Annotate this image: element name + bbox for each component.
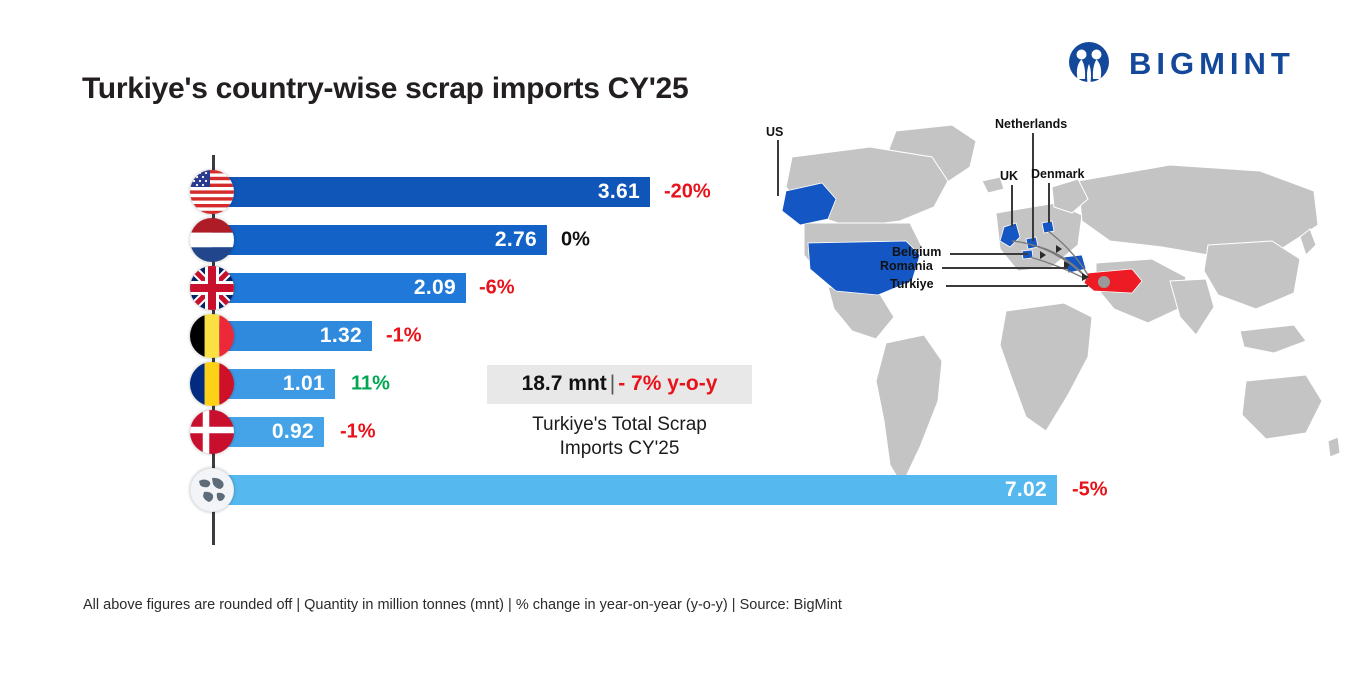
page-title: Turkiye's country-wise scrap imports CY'…: [82, 72, 688, 106]
bar-yoy-uk: -6%: [479, 277, 515, 300]
bar-value-others: 7.02: [1005, 478, 1057, 502]
bar-value-uk: 2.09: [414, 276, 466, 300]
bar-value-us: 3.61: [598, 180, 650, 204]
bar-others: 7.02: [212, 475, 1057, 505]
bar-value-belgium: 1.32: [320, 324, 372, 348]
map-label-denmark: Denmark: [1031, 167, 1085, 181]
leader-line-netherlands: [1032, 133, 1034, 241]
bigmint-logo-icon: [1063, 38, 1115, 90]
bar-netherlands: 2.76: [212, 225, 547, 255]
brand-logo: BIGMINT: [1063, 38, 1295, 90]
total-value: 18.7 mnt: [522, 372, 607, 395]
map-label-romania: Romania: [880, 259, 933, 273]
romania-flag-icon: [190, 362, 234, 406]
us-flag-icon: [190, 170, 234, 214]
world-map-graphic: [700, 95, 1340, 515]
total-separator: |: [607, 372, 618, 395]
netherlands-flag-icon: [190, 218, 234, 262]
brand-name: BIGMINT: [1129, 46, 1295, 82]
belgium-flag-icon: [190, 314, 234, 358]
map-label-uk: UK: [1000, 169, 1018, 183]
bar-us: 3.61: [212, 177, 650, 207]
bar-yoy-belgium: -1%: [386, 325, 422, 348]
leader-line-us: [777, 140, 779, 196]
map-label-netherlands: Netherlands: [995, 117, 1067, 131]
bar-uk: 2.09: [212, 273, 466, 303]
bar-value-denmark: 0.92: [272, 420, 324, 444]
map-label-belgium: Belgium: [892, 245, 941, 259]
leader-line-romania: [942, 267, 1068, 269]
leader-line-turkiye: [946, 285, 1088, 287]
leader-line-uk: [1011, 185, 1013, 227]
map-region-turkiye: [1084, 269, 1142, 293]
map-label-turkiye: Turkiye: [890, 277, 934, 291]
denmark-flag-icon: [190, 410, 234, 454]
leader-line-denmark: [1048, 183, 1050, 223]
bar-value-romania: 1.01: [283, 372, 335, 396]
world-map: US Netherlands UK Denmark Belgium Romani…: [700, 95, 1340, 515]
leader-line-belgium: [950, 253, 1028, 255]
globe-icon: [190, 468, 234, 512]
footnote: All above figures are rounded off | Quan…: [83, 597, 842, 613]
bar-belgium: 1.32: [212, 321, 372, 351]
map-label-us: US: [766, 125, 783, 139]
bar-yoy-netherlands: 0%: [561, 229, 590, 252]
uk-flag-icon: [190, 266, 234, 310]
bar-yoy-denmark: -1%: [340, 421, 376, 444]
bar-value-netherlands: 2.76: [495, 228, 547, 252]
bar-yoy-romania: 11%: [351, 373, 390, 396]
